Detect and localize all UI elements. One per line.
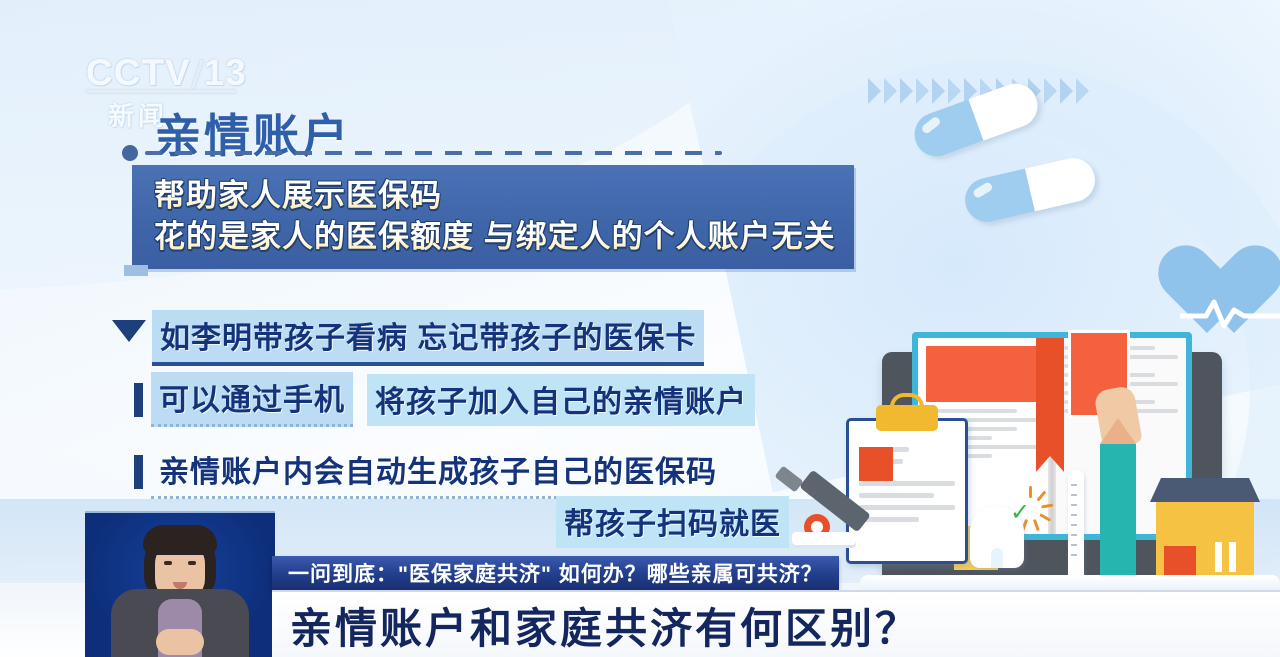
triangle-down-icon xyxy=(112,320,146,342)
step-row-1: 可以通过手机 将孩子加入自己的亲情账户 xyxy=(134,372,755,427)
heart-ecg-icon xyxy=(1180,248,1280,348)
anchor-jacket xyxy=(111,589,249,657)
sub-banner: 一问到底："医保家庭共济" 如何办？哪些亲属可共济？ xyxy=(272,556,839,590)
bookmark-ribbon-icon xyxy=(1036,338,1064,456)
ecg-line-icon xyxy=(1180,292,1280,332)
example-heading-row: 如李明带孩子看病 忘记带孩子的医保卡 xyxy=(152,310,704,366)
dot-bullet-icon xyxy=(122,145,138,161)
closing-text: 帮孩子扫码就医 xyxy=(556,496,789,548)
vertical-bar-icon xyxy=(134,455,143,489)
logo-cctv-text: CCTV xyxy=(86,52,191,93)
capsule-pill-icon xyxy=(961,154,1100,227)
closing-row: 帮孩子扫码就医 xyxy=(556,496,789,548)
dashed-rule-icon xyxy=(145,151,722,155)
prescription-card-icon xyxy=(1068,330,1130,418)
step-row-2: 亲情账户内会自动生成孩子自己的医保码 xyxy=(134,444,725,499)
news-anchor-video-icon[interactable] xyxy=(85,511,275,657)
logo-slash-icon xyxy=(191,60,203,88)
anchor-eye-right xyxy=(188,561,196,565)
hand-icon xyxy=(1093,385,1142,449)
anchor-hands xyxy=(156,629,204,655)
broadcast-screen: ✓ CCTV13 新闻 亲情账户 帮助家人展示医保码 花的是家人的医保额度 与绑… xyxy=(0,0,1280,657)
step-2-highlight: 亲情账户内会自动生成孩子自己的医保码 xyxy=(151,444,725,499)
capsule-pill-icon xyxy=(908,77,1043,162)
step-1-highlight: 可以通过手机 xyxy=(151,372,353,427)
anchor-eye-left xyxy=(164,561,172,565)
vertical-bar-icon xyxy=(134,383,143,417)
headline-text: 亲情账户和家庭共济有何区别？ xyxy=(290,595,920,656)
example-heading-text: 如李明带孩子看病 忘记带孩子的医保卡 xyxy=(152,310,704,366)
panel-shadow-tab xyxy=(124,265,148,276)
step-1-rest: 将孩子加入自己的亲情账户 xyxy=(367,374,755,426)
anchor-mouth xyxy=(173,582,187,589)
definition-line-1: 帮助家人展示医保码 xyxy=(154,175,836,216)
headline-banner: 亲情账户和家庭共济有何区别？ xyxy=(272,590,1280,657)
definition-panel: 帮助家人展示医保码 花的是家人的医保额度 与绑定人的个人账户无关 xyxy=(132,165,854,269)
anchor-fringe xyxy=(143,525,217,555)
sub-banner-text: 一问到底："医保家庭共济" 如何办？哪些亲属可共济？ xyxy=(288,558,823,588)
chevron-arrows-icon xyxy=(868,78,1089,104)
logo-channel-number: 13 xyxy=(204,52,247,93)
clipboard-clamp xyxy=(876,405,938,431)
dashed-rule-row xyxy=(122,145,722,161)
definition-line-2: 花的是家人的医保额度 与绑定人的个人账户无关 xyxy=(154,216,836,257)
